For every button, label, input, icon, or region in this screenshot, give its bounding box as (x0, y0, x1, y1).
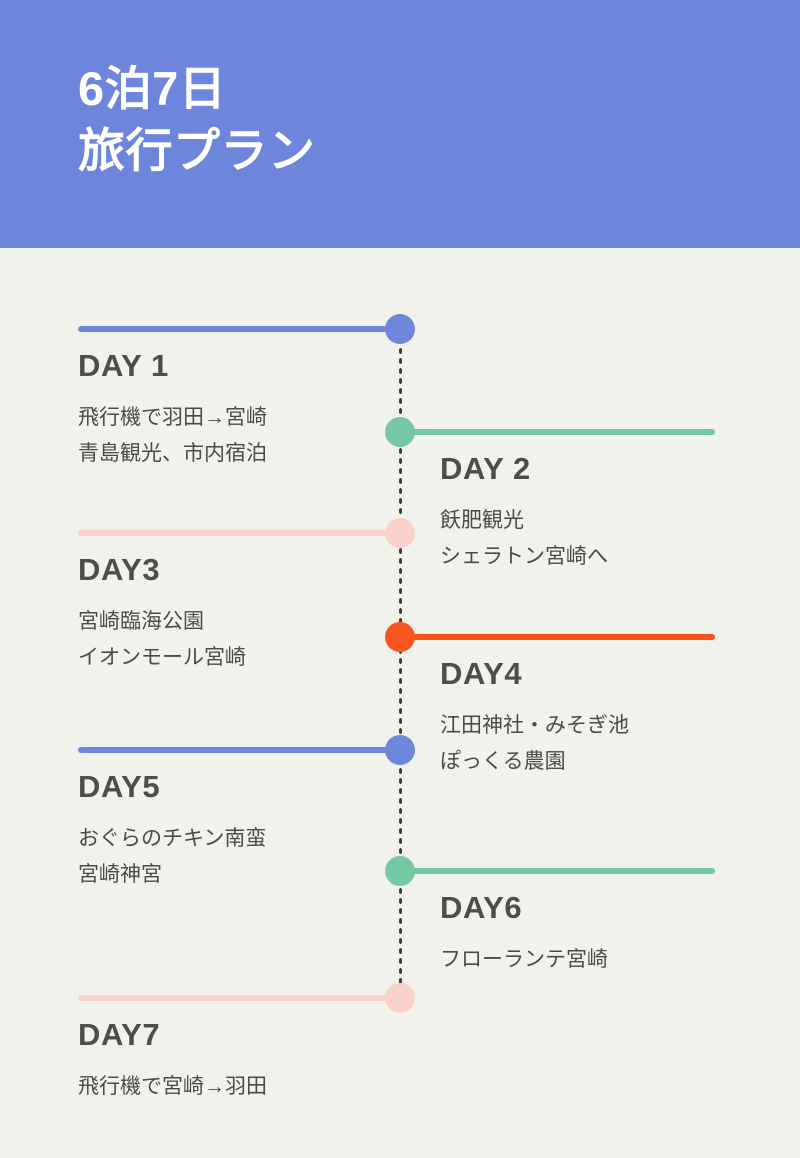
timeline-node-dot (385, 518, 415, 548)
timeline-entry-text: DAY 2飫肥観光 シェラトン宮崎へ (440, 449, 770, 575)
day-description: フローランテ宮崎 (440, 942, 770, 978)
day-description: 飛行機で羽田→宮崎 青島観光、市内宿泊 (78, 400, 398, 472)
timeline-entry-text: DAY7飛行機で宮崎→羽田 (78, 1015, 398, 1105)
timeline-entry-text: DAY 1飛行機で羽田→宮崎 青島観光、市内宿泊 (78, 346, 398, 472)
timeline-connector-bar (78, 530, 400, 536)
timeline-node-dot (385, 735, 415, 765)
timeline-entry-text: DAY3宮崎臨海公園 イオンモール宮崎 (78, 550, 398, 676)
timeline-node-dot (385, 622, 415, 652)
day-description: 江田神社・みそぎ池 ぽっくる農園 (440, 708, 770, 780)
day-label: DAY 1 (78, 346, 398, 386)
day-description: 宮崎臨海公園 イオンモール宮崎 (78, 604, 398, 676)
timeline-connector-bar (400, 429, 715, 435)
timeline-entry-text: DAY4江田神社・みそぎ池 ぽっくる農園 (440, 654, 770, 780)
timeline-entry-text: DAY6フローランテ宮崎 (440, 888, 770, 978)
timeline-connector-bar (78, 995, 400, 1001)
day-description: 飫肥観光 シェラトン宮崎へ (440, 503, 770, 575)
day-label: DAY3 (78, 550, 398, 590)
travel-plan-poster: 6泊7日 旅行プラン DAY 1飛行機で羽田→宮崎 青島観光、市内宿泊DAY 2… (0, 0, 800, 1158)
timeline-node-dot (385, 983, 415, 1013)
day-label: DAY5 (78, 767, 398, 807)
day-label: DAY6 (440, 888, 770, 928)
timeline-node-dot (385, 417, 415, 447)
timeline-node-dot (385, 314, 415, 344)
timeline-connector-bar (78, 326, 400, 332)
day-description: 飛行機で宮崎→羽田 (78, 1069, 398, 1105)
timeline-connector-bar (78, 747, 400, 753)
day-label: DAY 2 (440, 449, 770, 489)
timeline-node-dot (385, 856, 415, 886)
page-title: 6泊7日 旅行プラン (78, 58, 316, 182)
day-label: DAY7 (78, 1015, 398, 1055)
timeline-entry-text: DAY5おぐらのチキン南蛮 宮崎神宮 (78, 767, 398, 893)
day-description: おぐらのチキン南蛮 宮崎神宮 (78, 821, 398, 893)
day-label: DAY4 (440, 654, 770, 694)
poster-header: 6泊7日 旅行プラン (0, 0, 800, 248)
timeline-connector-bar (400, 868, 715, 874)
timeline-connector-bar (400, 634, 715, 640)
